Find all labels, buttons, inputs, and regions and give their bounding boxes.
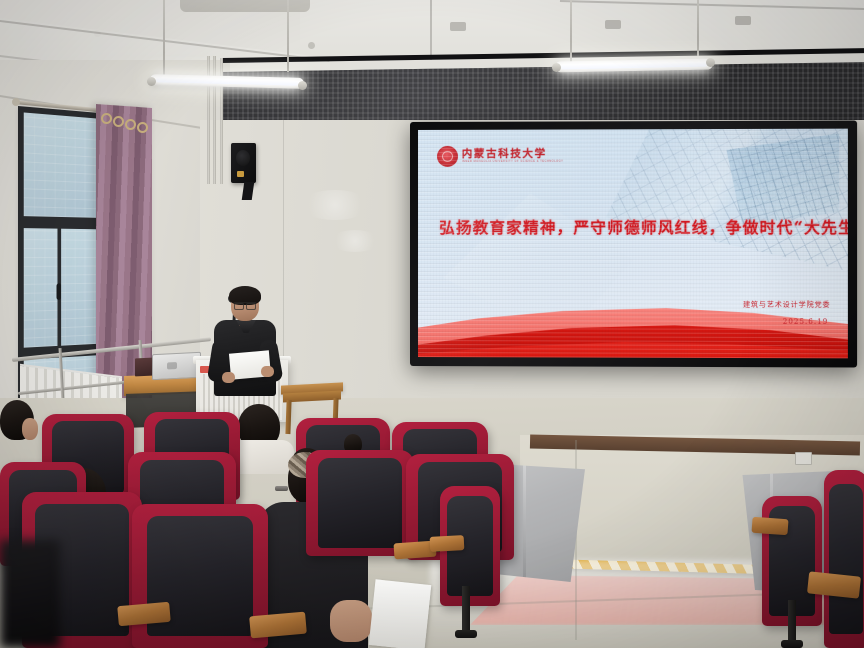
wall-power-outlet[interactable] [795,452,812,465]
presenter-glasses [234,302,256,308]
light-suspension-rod [570,0,572,62]
curtain-grommet [113,116,124,127]
audience-handout-papers [369,579,432,648]
seat-leg [462,586,470,634]
university-logo: 内蒙古科技大学 INNER MONGOLIA UNIVERSITY OF SCI… [437,145,564,166]
wall-smudge [300,190,370,220]
audience-face-far-left [22,418,38,440]
university-name-en: INNER MONGOLIA UNIVERSITY OF SCIENCE & T… [462,160,564,163]
window-handle[interactable] [57,283,62,300]
light-tube [561,62,707,70]
ceiling-seam [430,0,432,60]
audience-arm-mid-center [330,600,372,642]
window-glass-texture [24,228,102,348]
seat-armrest [751,517,788,535]
ceiling-vent [450,22,466,31]
presenter-hand-left [222,372,235,383]
window-glass-texture [24,112,102,217]
light-tube [156,77,298,85]
light-end-cap [552,63,561,72]
curtain-grommet [137,122,148,133]
lecture-hall-photo: 内蒙古科技大学 INNER MONGOLIA UNIVERSITY OF SCI… [0,0,864,648]
seat-foot [781,640,803,648]
curtain-grommet [125,119,136,130]
light-end-cap [298,81,307,90]
hair-clip [275,486,288,491]
ceiling-vent [735,16,751,25]
curtain-grommet [101,113,112,124]
auditorium-seat[interactable] [132,504,268,648]
slide-main-title: 弘扬教育家精神，严守师德师风红线，争做时代“大先生” [439,216,835,238]
light-suspension-rod [163,0,165,78]
auditorium-seat[interactable] [306,450,414,556]
speaker-cone-icon [236,150,250,166]
slide-date: 2025.6.19 [783,318,829,326]
ceiling-vent [605,20,621,29]
light-end-cap [147,77,156,86]
laptop-accessory [135,358,153,377]
led-display-screen[interactable]: 内蒙古科技大学 INNER MONGOLIA UNIVERSITY OF SCI… [410,121,857,368]
light-suspension-rod [287,0,289,72]
ceiling-fitting [308,42,315,49]
seat-armrest [430,535,465,552]
seat-leg [788,600,796,644]
screen-surface: 内蒙古科技大学 INNER MONGOLIA UNIVERSITY OF SCI… [418,129,848,359]
window [18,106,107,406]
light-suspension-rod [697,0,699,56]
ceiling-fan [180,0,310,12]
speaker-indicator [237,171,244,177]
university-name-cn: 内蒙古科技大学 [462,149,564,160]
foreground-blur-left [0,540,60,648]
auditorium-seat[interactable] [824,470,864,648]
window-pane-upper [24,112,102,217]
curtain-rod-finial [12,98,20,106]
seat-backrest-pad [829,484,863,634]
wall-seam [283,120,284,380]
presenter-hand-right [261,366,274,377]
wall-speaker [231,143,256,183]
university-seal-icon [437,146,458,167]
window-pane-middle [24,228,102,348]
seat-backrest-pad [318,458,402,547]
seat-foot [455,630,477,638]
wall-smudge [330,230,380,252]
light-end-cap [706,58,715,67]
slide-organization: 建筑与艺术设计学院党委 [743,300,831,310]
window-mullion [18,216,107,229]
university-logo-text: 内蒙古科技大学 INNER MONGOLIA UNIVERSITY OF SCI… [462,149,564,163]
drape-fold [523,462,526,582]
laptop-logo-icon [167,362,177,370]
